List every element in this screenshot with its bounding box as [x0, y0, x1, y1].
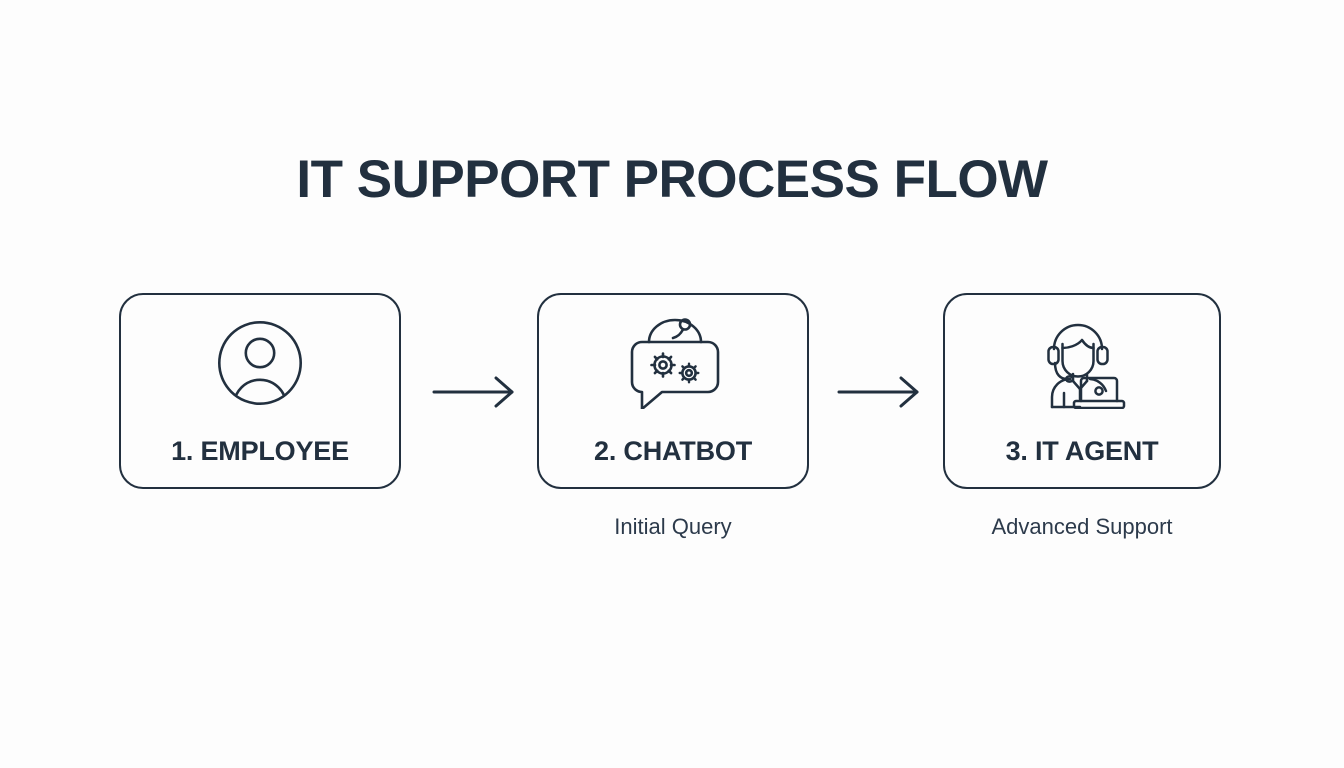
- step-caption-chatbot: Initial Query: [537, 514, 809, 541]
- chatbot-speech-bubble-gears-icon: [623, 317, 723, 409]
- step-card-chatbot[interactable]: 2. CHATBOT: [537, 293, 809, 489]
- flow-step-chatbot[interactable]: 2. CHATBOT Initial Query: [537, 293, 809, 541]
- user-avatar-icon: [217, 317, 303, 409]
- process-flow-diagram: 1. EMPLOYEE: [119, 293, 1221, 543]
- arrow-right-icon-2: [837, 375, 927, 409]
- page-title: IT SUPPORT PROCESS FLOW: [0, 152, 1344, 208]
- flow-step-employee[interactable]: 1. EMPLOYEE: [119, 293, 401, 541]
- step-label-it-agent: 3. IT AGENT: [945, 436, 1219, 467]
- step-card-it-agent[interactable]: 3. IT AGENT: [943, 293, 1221, 489]
- step-label-employee: 1. EMPLOYEE: [121, 436, 399, 467]
- step-card-employee[interactable]: 1. EMPLOYEE: [119, 293, 401, 489]
- support-agent-headset-laptop-icon: [1034, 317, 1130, 409]
- step-label-chatbot: 2. CHATBOT: [539, 436, 807, 467]
- arrow-right-icon-1: [432, 375, 522, 409]
- flow-step-it-agent[interactable]: 3. IT AGENT Advanced Support: [943, 293, 1221, 541]
- step-caption-it-agent: Advanced Support: [943, 514, 1221, 541]
- slide-canvas: IT SUPPORT PROCESS FLOW: [0, 0, 1344, 768]
